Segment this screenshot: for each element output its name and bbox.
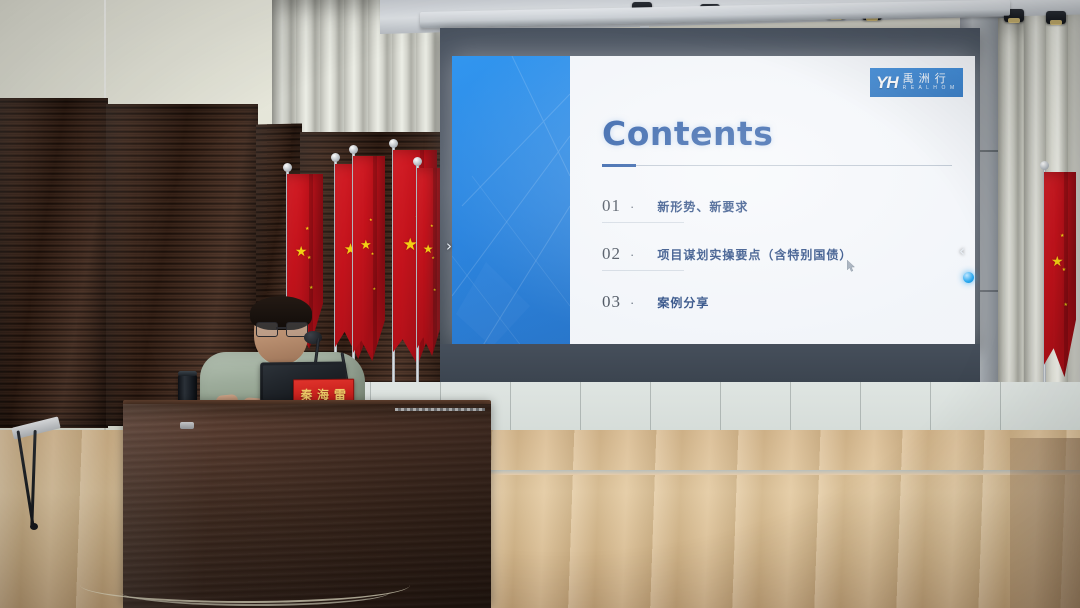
toc-item[interactable]: 02·项目谋划实操要点（含特别国债）	[602, 244, 852, 264]
flag-finial	[283, 163, 292, 172]
screen-prev-chevron-icon[interactable]: ‹	[959, 244, 965, 259]
flag-star-large-icon: ★	[1051, 254, 1064, 268]
toc-item[interactable]: 03·案例分享	[602, 292, 709, 312]
flag-finial	[389, 139, 398, 148]
slide-accent-panel: REALHOM	[452, 56, 570, 347]
toc-number: 01	[602, 196, 621, 216]
toc-number: 03	[602, 292, 621, 312]
podium-label-strip	[395, 408, 485, 411]
company-logo: YH 禹 洲 行 R E A L H O M	[870, 68, 963, 97]
toc-separator: ·	[630, 295, 634, 310]
podium-badge	[180, 422, 194, 429]
flag-finial	[331, 153, 340, 162]
podium	[123, 404, 491, 608]
glasses-bridge	[276, 327, 286, 329]
stage-dark-band	[440, 344, 980, 384]
screen-status-indicator	[963, 272, 974, 283]
logo-text-block: 禹 洲 行 R E A L H O M	[903, 74, 956, 91]
slide-line-art	[452, 56, 570, 347]
presentation-slide: REALHOM YH 禹 洲 行 R E A L H O M Contents …	[452, 56, 975, 347]
ceiling-spotlight-icon	[1046, 11, 1066, 24]
divider-accent	[602, 164, 636, 167]
toc-separator: ·	[630, 247, 634, 262]
thermos-cap	[178, 371, 197, 376]
logo-monogram: YH	[876, 74, 898, 91]
screen-next-chevron-icon[interactable]: ›	[446, 239, 452, 254]
flag-finial	[413, 157, 422, 166]
toc-item[interactable]: 01·新形势、新要求	[602, 196, 748, 216]
toc-label: 案例分享	[657, 294, 709, 311]
flag-cloth: ★★★★	[353, 156, 385, 361]
toc-underline	[602, 222, 684, 223]
toc-number: 02	[602, 244, 621, 264]
flag-star-large-icon: ★	[295, 244, 308, 258]
divider-line	[636, 165, 952, 166]
flag-star-large-icon: ★	[360, 238, 372, 251]
title-divider	[602, 164, 952, 167]
toc-label: 新形势、新要求	[657, 198, 748, 215]
flag-fold	[433, 168, 437, 356]
flag-star-large-icon: ★	[423, 243, 434, 255]
tripod-stand	[10, 430, 66, 530]
mouse-cursor-icon	[847, 260, 855, 272]
podium-highlight	[123, 404, 491, 608]
logo-name-en: R E A L H O M	[903, 85, 956, 91]
logo-name-cn: 禹 洲 行	[903, 74, 956, 85]
flag-finial	[349, 145, 358, 154]
toc-label: 项目谋划实操要点（含特别国债）	[657, 246, 852, 263]
toc-separator: ·	[630, 199, 634, 214]
flag-fold	[373, 156, 377, 361]
speaker-glasses	[256, 322, 306, 335]
glasses-lens-left	[256, 322, 278, 337]
tripod-foot	[30, 523, 38, 530]
slide-title: Contents	[602, 114, 773, 153]
flag-finial	[1040, 161, 1049, 170]
floor-shadow-right	[1010, 438, 1080, 608]
wood-slat-panel	[0, 98, 108, 428]
toc-underline	[602, 270, 684, 271]
presentation-photo-scene: ★★★★★★★★★★★★★★★★★★★★ REALHOM YH 禹 洲 行 R …	[0, 0, 1080, 608]
flag-fold	[1064, 172, 1068, 377]
